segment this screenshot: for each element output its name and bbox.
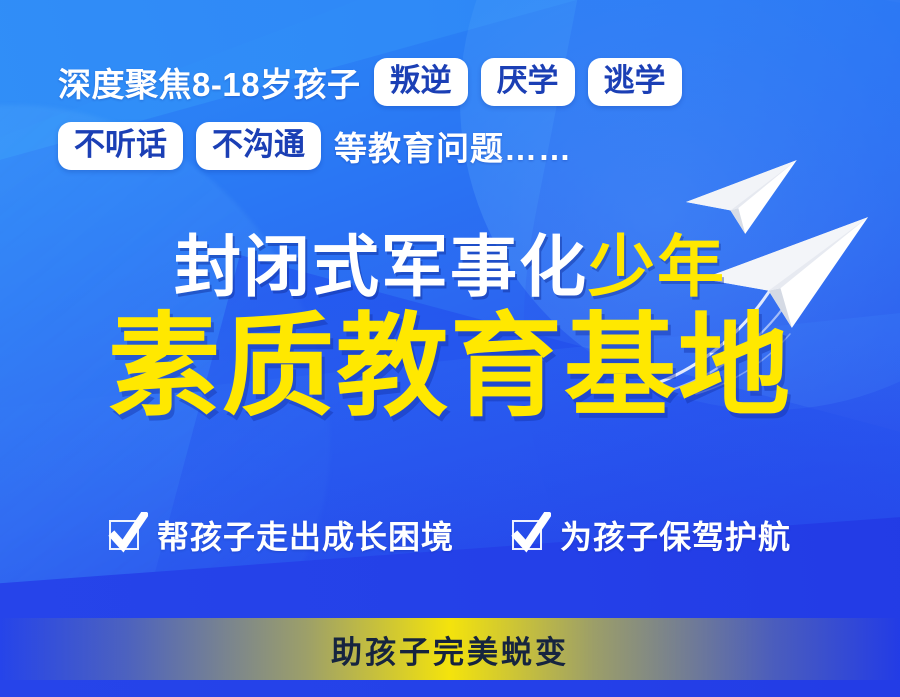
tagline-block: 深度聚焦8-18岁孩子 叛逆 厌学 逃学 不听话 不沟通 等教育问题…… [0,54,900,174]
benefit-item-escort: 为孩子保驾护航 [512,512,791,558]
tag-pill-no-communication[interactable]: 不沟通 [196,122,321,170]
tag-pill-rebellion[interactable]: 叛逆 [374,58,468,106]
tag-pill-truancy[interactable]: 逃学 [588,58,682,106]
tag-pill-school-aversion[interactable]: 厌学 [481,58,575,106]
headline-line-1-accent: 少年 [588,230,726,305]
headline-line-2: 素质教育基地 [0,309,900,425]
benefit-label: 为孩子保驾护航 [560,512,791,558]
tagline-row-2: 不听话 不沟通 等教育问题…… [58,118,842,174]
headline-line-1-white: 封闭式军事化 [174,230,588,305]
check-icon [109,518,143,552]
benefit-item-growth: 帮孩子走出成长困境 [109,512,454,558]
tagline-trailing-text: 等教育问题…… [334,122,572,170]
benefit-label: 帮孩子走出成长困境 [157,512,454,558]
promo-poster: 深度聚焦8-18岁孩子 叛逆 厌学 逃学 不听话 不沟通 等教育问题…… 封闭式… [0,0,900,697]
bottom-banner: 助孩子完美蜕变 [0,618,900,680]
tag-pill-disobedient[interactable]: 不听话 [58,122,183,170]
headline-block: 封闭式军事化少年 素质教育基地 [0,232,900,425]
bottom-banner-text: 助孩子完美蜕变 [331,627,569,672]
poster-content: 深度聚焦8-18岁孩子 叛逆 厌学 逃学 不听话 不沟通 等教育问题…… 封闭式… [0,0,900,697]
tagline-row-1: 深度聚焦8-18岁孩子 叛逆 厌学 逃学 [58,54,842,110]
headline-line-1: 封闭式军事化少年 [0,232,900,303]
benefits-row: 帮孩子走出成长困境 为孩子保驾护航 [0,512,900,558]
check-icon [512,518,546,552]
tagline-lead-text: 深度聚焦8-18岁孩子 [58,58,361,106]
